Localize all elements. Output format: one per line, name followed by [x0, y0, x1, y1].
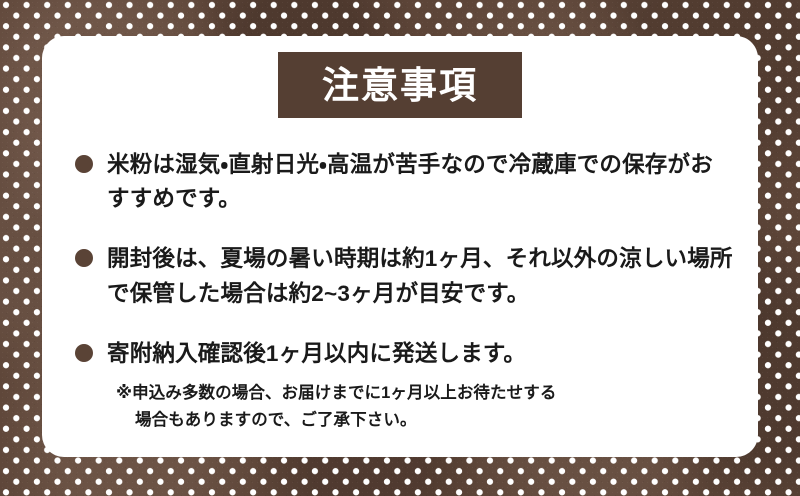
notice-text: 寄附納入確認後1ヶ月以内に発送します。 [107, 337, 735, 371]
filled-circle-bullet-icon [75, 249, 93, 267]
list-item: 米粉は湿気・直射日光・高温が苦手なので冷蔵庫での保存がおすすめです。 [75, 148, 735, 216]
white-content-card: 注意事項 米粉は湿気・直射日光・高温が苦手なので冷蔵庫での保存がおすすめです。 … [42, 36, 758, 457]
notice-text: 米粉は湿気・直射日光・高温が苦手なので冷蔵庫での保存がおすすめです。 [107, 148, 735, 216]
note-line-2: 場合もありますので、ご了承下さい。 [116, 407, 735, 434]
notice-supplementary-note: ※申込み多数の場合、お届けまでに1ヶ月以上お待たせする 場合もありますので、ご了… [116, 380, 735, 435]
filled-circle-bullet-icon [75, 155, 93, 173]
filled-circle-bullet-icon [75, 344, 93, 362]
title-banner: 注意事項 [278, 52, 522, 118]
notice-list: 米粉は湿気・直射日光・高温が苦手なので冷蔵庫での保存がおすすめです。 開封後は、… [75, 148, 735, 435]
list-item: 寄附納入確認後1ヶ月以内に発送します。 ※申込み多数の場合、お届けまでに1ヶ月以… [75, 337, 735, 435]
list-item: 開封後は、夏場の暑い時期は約1ヶ月、それ以外の涼しい場所で保管した場合は約2~3… [75, 242, 735, 310]
note-line-1: ※申込み多数の場合、お届けまでに1ヶ月以上お待たせする [116, 384, 556, 402]
notice-text: 開封後は、夏場の暑い時期は約1ヶ月、それ以外の涼しい場所で保管した場合は約2~3… [107, 242, 735, 310]
notice-graphic: 注意事項 米粉は湿気・直射日光・高温が苦手なので冷蔵庫での保存がおすすめです。 … [0, 0, 800, 496]
page-title: 注意事項 [322, 67, 478, 104]
